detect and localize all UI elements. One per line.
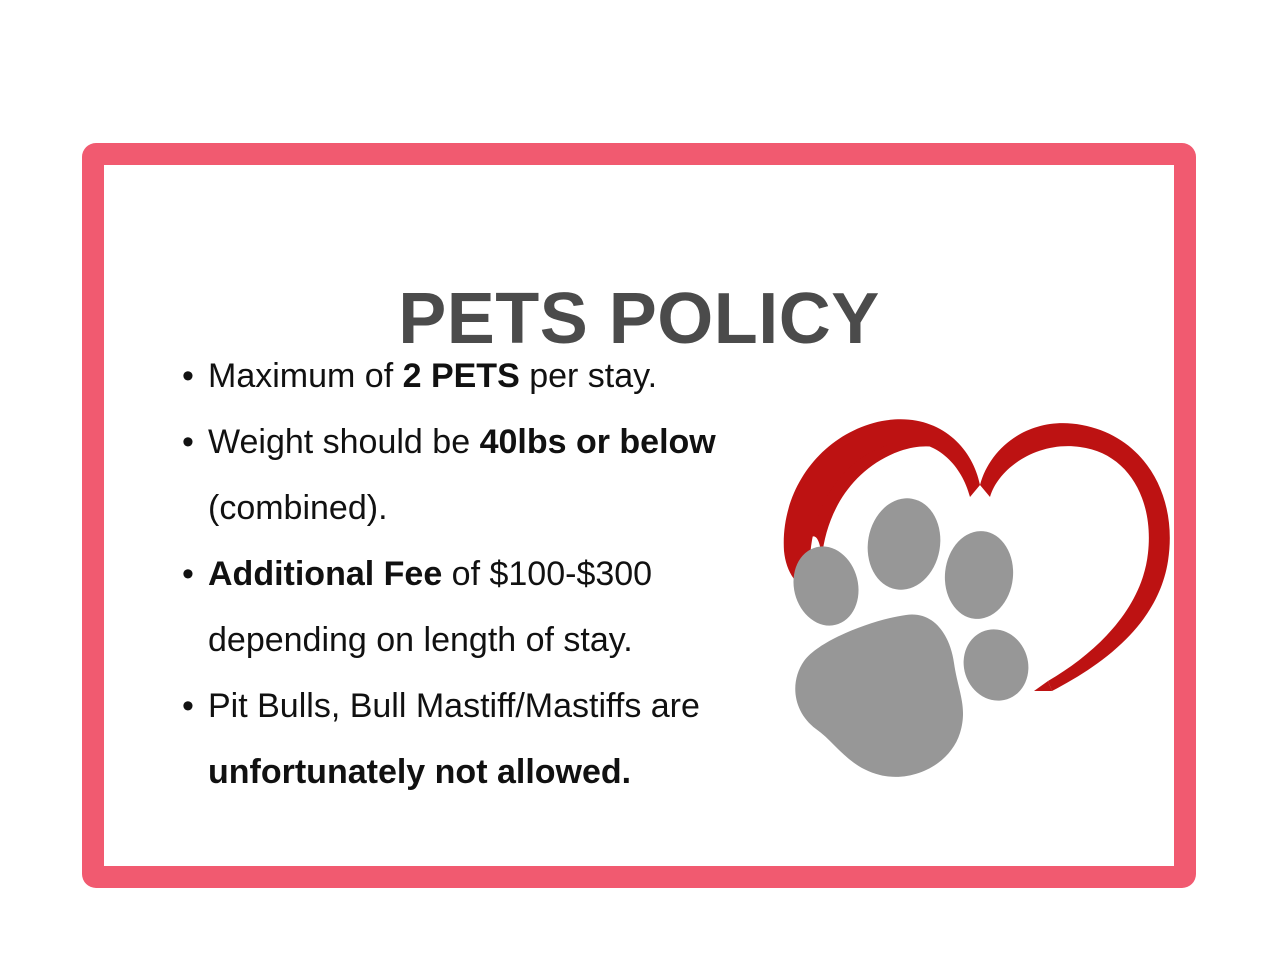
policy-item-text: Maximum of 2 PETS per stay.	[208, 357, 657, 395]
heart-paw-logo	[764, 403, 1184, 783]
policy-list-item: •Weight should be 40lbs or below (combin…	[182, 409, 776, 541]
policy-item-text: Pit Bulls, Bull Mastiff/Mastiffs are unf…	[208, 687, 700, 791]
policy-list-item: •Additional Fee of $100-$300 depending o…	[182, 541, 708, 673]
poster-card: PETS POLICY •Maximum of 2 PETS per stay.…	[82, 143, 1196, 888]
policy-bullet-list: •Maximum of 2 PETS per stay.•Weight shou…	[182, 343, 782, 805]
policy-text-run: Maximum of	[208, 357, 403, 395]
bullet-icon: •	[182, 343, 194, 409]
policy-list-item: •Pit Bulls, Bull Mastiff/Mastiffs are un…	[182, 673, 780, 805]
paw-main-pad	[795, 615, 963, 777]
policy-text-run: (combined).	[208, 489, 388, 527]
policy-text-run: per stay.	[520, 357, 657, 395]
poster-inner-surface: PETS POLICY •Maximum of 2 PETS per stay.…	[104, 165, 1174, 866]
bullet-icon: •	[182, 409, 194, 475]
policy-list-item: •Maximum of 2 PETS per stay.	[182, 343, 768, 409]
policy-item-text: Weight should be 40lbs or below (combine…	[208, 423, 716, 527]
policy-text-run: Pit Bulls, Bull Mastiff/Mastiffs are	[208, 687, 700, 725]
bullet-icon: •	[182, 541, 194, 607]
policy-emphasis: 40lbs or below	[480, 423, 716, 461]
paw-toe-4	[954, 621, 1037, 709]
policy-text-run: Weight should be	[208, 423, 480, 461]
paw-toe-2	[861, 492, 948, 595]
policy-emphasis: 2 PETS	[403, 357, 520, 395]
policy-emphasis: unfortunately not allowed.	[208, 753, 631, 791]
policy-item-text: Additional Fee of $100-$300 depending on…	[208, 555, 652, 659]
bullet-icon: •	[182, 673, 194, 739]
paw-toe-3	[941, 528, 1018, 623]
policy-emphasis: Additional Fee	[208, 555, 442, 593]
